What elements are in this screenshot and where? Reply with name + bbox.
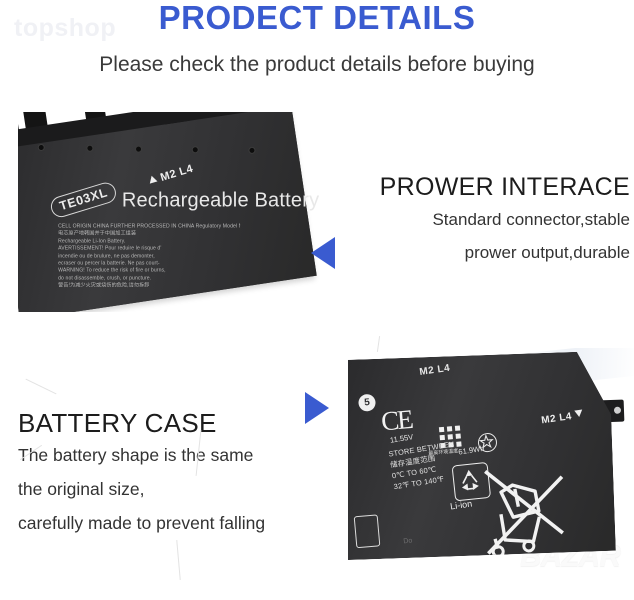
battery-screw — [249, 148, 255, 154]
bottom-battery-orientation-mark-top: M2 L4 — [419, 363, 451, 378]
battery-screw — [192, 147, 198, 153]
fine-print-line: ecraser ou percer la batterie. Ne pas co… — [58, 260, 240, 267]
battery-top-rail — [18, 112, 279, 148]
power-interface-line: prower output,durable — [330, 237, 630, 268]
battery-case-heading: BATTERY CASE — [18, 408, 338, 438]
top-battery-body: M2 L4 TE03XL Rechargeable Battery CELL O… — [18, 112, 317, 312]
bottom-battery-orientation-mark-right: M2 L4 — [541, 410, 584, 427]
battery-case-line: the original size, — [18, 472, 338, 506]
section-power-interface: PROWER INTERACE Standard connector,stabl… — [330, 172, 630, 268]
fine-print-line: Rechargeable Li-Ion Battery. — [58, 238, 240, 245]
top-battery-photo: M2 L4 TE03XL Rechargeable Battery CELL O… — [18, 112, 320, 312]
battery-storage-spec: STORE BETWEEN 储存温度范围 0℃ TO 60℃ 32℉ TO 14… — [388, 438, 461, 492]
weee-crossed-bin-icon — [468, 445, 595, 563]
section-battery-case: BATTERY CASE The battery shape is the sa… — [18, 408, 338, 540]
fine-print-line: CELL ORIGIN CHINA FURTHER PROCESSED IN C… — [58, 223, 240, 230]
battery-chemistry-label: Li-ion — [450, 499, 473, 512]
battery-screw — [136, 146, 142, 152]
background-hairline — [176, 540, 180, 580]
secondary-label-box — [354, 514, 381, 548]
battery-faint-text: Do — [403, 537, 413, 545]
fine-print-line: incendie ou de brulure, ne pas demonter, — [58, 253, 240, 260]
page-subtitle: Please check the product details before … — [0, 52, 634, 78]
triangle-icon — [574, 410, 583, 418]
top-battery-orientation-mark: M2 L4 — [147, 163, 194, 188]
battery-case-line: carefully made to prevent falling — [18, 506, 338, 540]
bottom-battery-photo: M2 L4 M2 L4 5 CE 最高环境温度 11.55V — [348, 348, 634, 563]
fine-print-line: 电芯原产地韩国并于中国加工组装 — [58, 231, 240, 238]
top-battery-type-label: Rechargeable Battery — [122, 190, 319, 213]
fine-print-line: WARNING! To reduce the risk of fire or b… — [58, 268, 240, 275]
top-battery-fine-print: CELL ORIGIN CHINA FURTHER PROCESSED IN C… — [58, 223, 240, 290]
battery-screw — [38, 145, 44, 151]
top-battery-model-badge: TE03XL — [48, 180, 119, 220]
orientation-label: M2 L4 — [541, 411, 573, 426]
power-interface-heading: PROWER INTERACE — [330, 172, 630, 202]
battery-case-line: The battery shape is the same — [18, 438, 338, 472]
recycle-code-icon: 5 — [358, 394, 376, 412]
page-title: PRODECT DETAILS — [0, 0, 634, 36]
orientation-label: M2 L4 — [159, 163, 195, 184]
bottom-battery-body: M2 L4 M2 L4 5 CE 最高环境温度 11.55V — [348, 351, 616, 560]
fine-print-line: do not disassemble, crush, or puncture. — [58, 275, 240, 282]
battery-screw — [87, 145, 93, 151]
power-interface-line: Standard connector,stable — [330, 204, 630, 235]
triangle-icon — [148, 175, 158, 184]
fine-print-line: 警告!为减少火灾或烧伤的危险,请勿拆卸 — [58, 283, 240, 290]
weee-glyph — [468, 445, 595, 563]
background-hairline — [26, 379, 57, 395]
fine-print-line: AVERTISSEMENT! Pour reduire le risque d' — [58, 246, 240, 253]
